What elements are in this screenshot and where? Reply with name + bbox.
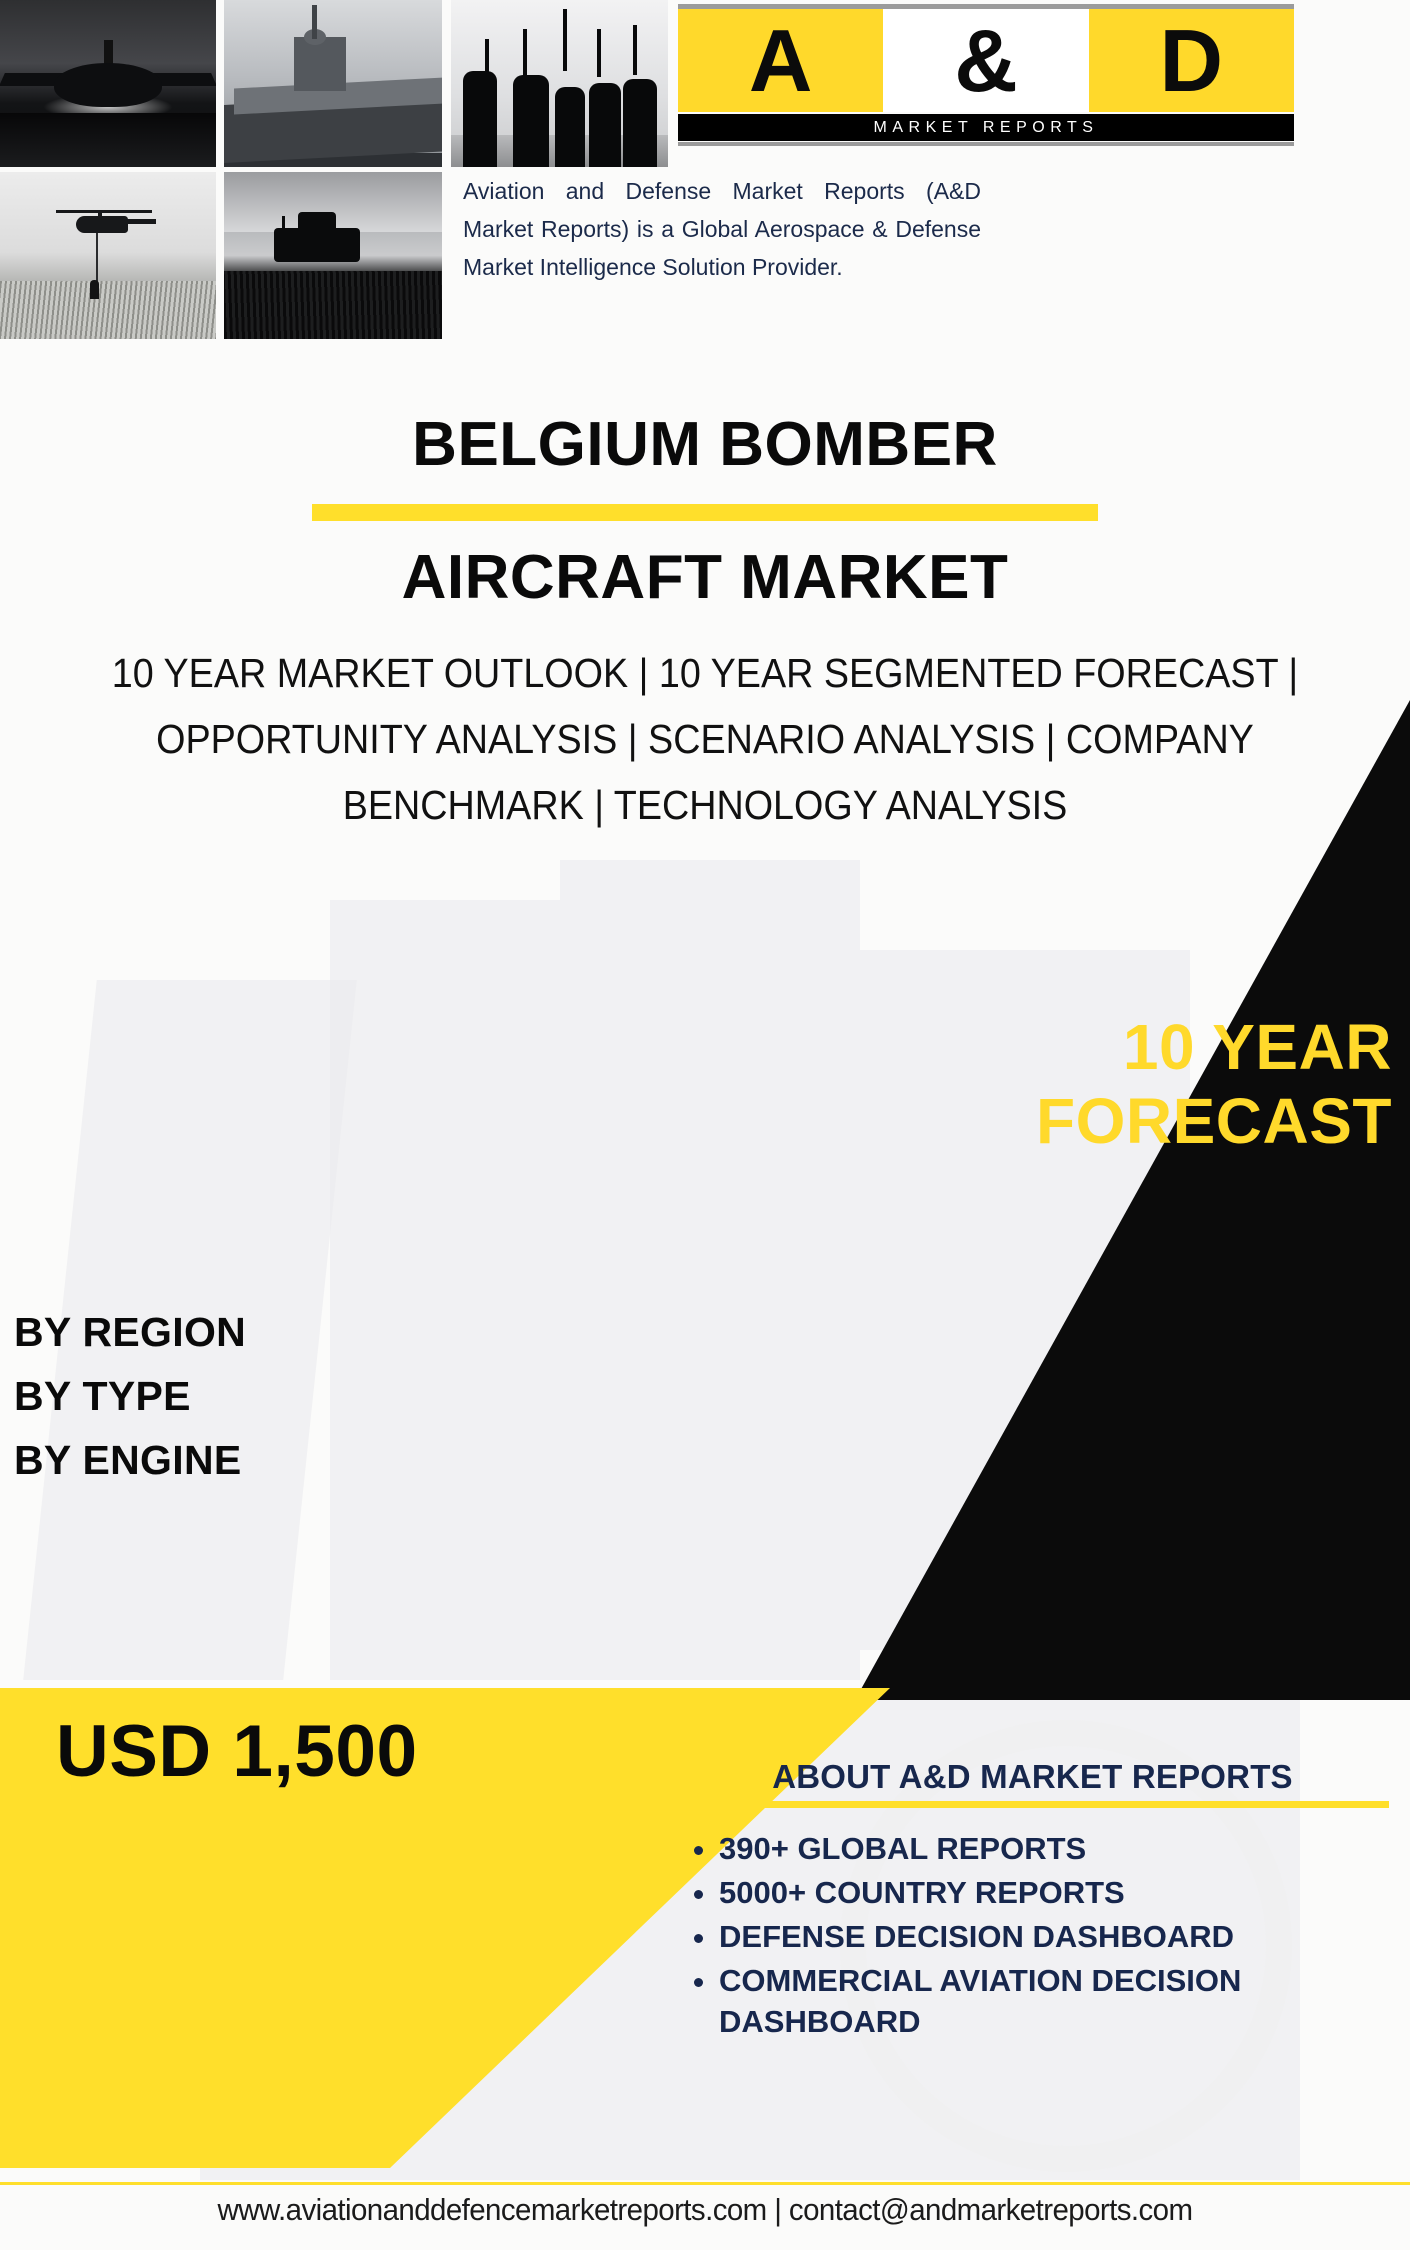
title-yellow-rule — [312, 504, 1098, 521]
list-item: 5000+ COUNTRY REPORTS — [719, 1872, 1400, 1913]
list-item: 390+ GLOBAL REPORTS — [719, 1828, 1400, 1869]
about-bullet-list: 390+ GLOBAL REPORTS 5000+ COUNTRY REPORT… — [665, 1828, 1400, 2042]
list-item: COMMERCIAL AVIATION DECISION DASHBOARD — [719, 1960, 1400, 2042]
segment-item-type: BY TYPE — [14, 1364, 246, 1428]
logo-bottom-rule — [678, 142, 1294, 146]
list-item: DEFENSE DECISION DASHBOARD — [719, 1916, 1400, 1957]
segment-item-region: BY REGION — [14, 1300, 246, 1364]
soldiers-silhouette-photo — [451, 0, 668, 167]
title-line-2: AIRCRAFT MARKET — [0, 547, 1410, 609]
armored-vehicle-photo — [224, 172, 442, 339]
brand-logo: A & D MARKET REPORTS — [678, 4, 1294, 146]
black-diagonal-wedge — [0, 700, 1410, 1700]
logo-letter-ampersand: & — [883, 9, 1088, 112]
forecast-badge-line-2: FORECAST — [922, 1084, 1392, 1158]
logo-letter-d: D — [1089, 9, 1294, 112]
logo-subtitle-text: MARKET REPORTS — [874, 119, 1099, 137]
logo-subtitle-bar: MARKET REPORTS — [678, 114, 1294, 141]
report-scope-subtitle: 10 YEAR MARKET OUTLOOK | 10 YEAR SEGMENT… — [84, 640, 1326, 838]
fighter-jet-photo — [0, 0, 216, 167]
logo-letter-tiles: A & D — [678, 9, 1294, 112]
footer-yellow-rule — [0, 2182, 1410, 2185]
segmentation-list: BY REGION BY TYPE BY ENGINE — [14, 1300, 246, 1492]
aircraft-carrier-photo — [224, 0, 442, 167]
forecast-badge-line-1: 10 YEAR — [922, 1010, 1392, 1084]
report-cover-poster: A & D MARKET REPORTS Aviation and Defens… — [0, 0, 1410, 2250]
footer-contact-line[interactable]: www.aviationanddefencemarketreports.com … — [35, 2192, 1375, 2228]
report-title-block: BELGIUM BOMBER AIRCRAFT MARKET — [0, 400, 1410, 609]
company-intro-paragraph: Aviation and Defense Market Reports (A&D… — [463, 172, 981, 286]
segment-item-engine: BY ENGINE — [14, 1428, 246, 1492]
title-line-1: BELGIUM BOMBER — [0, 400, 1410, 476]
about-panel: ABOUT A&D MARKET REPORTS 390+ GLOBAL REP… — [665, 1758, 1400, 2045]
forecast-badge: 10 YEAR FORECAST — [922, 1010, 1392, 1158]
helicopter-photo — [0, 172, 216, 339]
logo-letter-a: A — [678, 9, 883, 112]
about-yellow-rule — [665, 1801, 1389, 1808]
price-label: USD 1,500 — [56, 1710, 576, 1793]
about-heading: ABOUT A&D MARKET REPORTS — [665, 1758, 1400, 1796]
